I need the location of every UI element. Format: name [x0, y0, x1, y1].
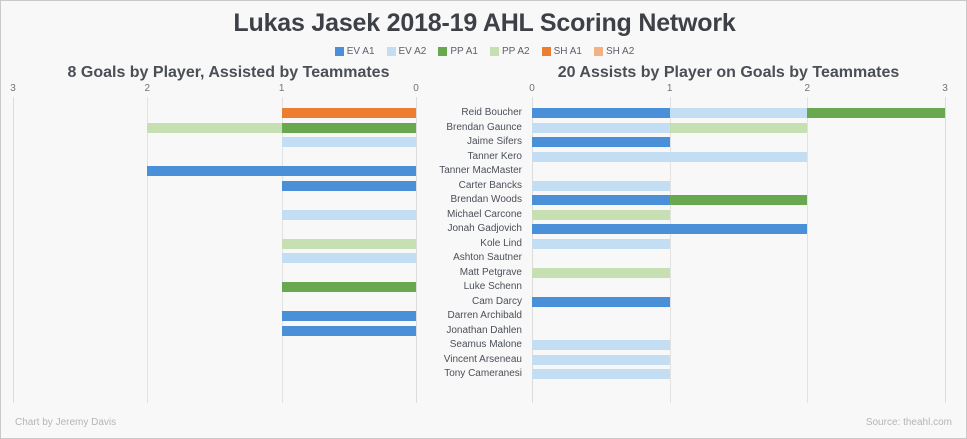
chart-row[interactable]	[13, 324, 416, 339]
bar-segment-ev-a1[interactable]	[282, 311, 416, 321]
legend-label: SH A1	[554, 46, 582, 57]
chart-row[interactable]	[13, 193, 416, 208]
chart-row[interactable]	[13, 150, 416, 165]
chart-row[interactable]	[13, 237, 416, 252]
player-label: Jonah Gadjovich	[420, 222, 524, 237]
chart-row[interactable]	[13, 135, 416, 150]
axis-tick-left-0: 0	[413, 83, 419, 94]
stacked-bar[interactable]	[282, 239, 416, 249]
bar-segment-pp-a1[interactable]	[807, 108, 945, 118]
legend-label: EV A1	[347, 46, 375, 57]
chart-row[interactable]	[532, 280, 945, 295]
stacked-bar[interactable]	[532, 268, 670, 278]
legend-swatch-icon	[542, 47, 551, 56]
chart-row[interactable]	[532, 338, 945, 353]
stacked-bar[interactable]	[147, 123, 416, 133]
chart-row[interactable]	[532, 353, 945, 368]
footer-credit: Chart by Jeremy Davis	[15, 417, 116, 428]
stacked-bar[interactable]	[532, 297, 670, 307]
bar-segment-ev-a2[interactable]	[532, 369, 670, 379]
bar-segment-ev-a2[interactable]	[532, 340, 670, 350]
bar-segment-ev-a2[interactable]	[532, 123, 670, 133]
stacked-bar[interactable]	[532, 369, 670, 379]
legend-swatch-icon	[335, 47, 344, 56]
stacked-bar[interactable]	[282, 137, 416, 147]
stacked-bar[interactable]	[532, 355, 670, 365]
page-title: Lukas Jasek 2018-19 AHL Scoring Network	[1, 9, 967, 38]
player-label: Ashton Sautner	[420, 251, 524, 266]
legend-label: PP A1	[450, 46, 478, 57]
stacked-bar[interactable]	[282, 181, 416, 191]
player-label: Jonathan Dahlen	[420, 324, 524, 339]
stacked-bar[interactable]	[532, 224, 807, 234]
chart-row[interactable]	[532, 179, 945, 194]
right-panel-plot	[532, 106, 945, 396]
chart-row[interactable]	[13, 106, 416, 121]
player-label: Reid Boucher	[420, 106, 524, 121]
chart-row[interactable]	[13, 338, 416, 353]
legend-swatch-icon	[594, 47, 603, 56]
chart-row[interactable]	[532, 309, 945, 324]
chart-row[interactable]	[13, 280, 416, 295]
chart-row[interactable]	[13, 309, 416, 324]
stacked-bar[interactable]	[282, 253, 416, 263]
stacked-bar[interactable]	[532, 108, 945, 118]
legend-swatch-icon	[387, 47, 396, 56]
chart-row[interactable]	[532, 135, 945, 150]
axis-tick-right-1: 1	[667, 83, 673, 94]
chart-row[interactable]	[532, 150, 945, 165]
bar-segment-ev-a2[interactable]	[282, 253, 416, 263]
chart-row[interactable]	[13, 121, 416, 136]
legend-item-ev-a1[interactable]: EV A1	[335, 46, 375, 57]
chart-row[interactable]	[13, 367, 416, 382]
axis-tick-left-2: 2	[145, 83, 151, 94]
legend-item-pp-a2[interactable]: PP A2	[490, 46, 530, 57]
bar-segment-pp-a2[interactable]	[532, 268, 670, 278]
bar-segment-ev-a1[interactable]	[282, 326, 416, 336]
chart-canvas: Lukas Jasek 2018-19 AHL Scoring Network …	[0, 0, 967, 439]
axis-tick-right-0: 0	[529, 83, 535, 94]
stacked-bar[interactable]	[532, 195, 807, 205]
player-label: Kole Lind	[420, 237, 524, 252]
bar-segment-ev-a2[interactable]	[670, 108, 808, 118]
legend-label: PP A2	[502, 46, 530, 57]
player-label: Vincent Arseneau	[420, 353, 524, 368]
stacked-bar[interactable]	[532, 340, 670, 350]
bar-segment-ev-a1[interactable]	[532, 297, 670, 307]
legend-swatch-icon	[438, 47, 447, 56]
chart-row[interactable]	[13, 208, 416, 223]
bar-segment-ev-a1[interactable]	[532, 195, 670, 205]
player-label: Jaime Sifers	[420, 135, 524, 150]
bar-segment-sh-a1[interactable]	[282, 108, 416, 118]
axis-tick-left-1: 1	[279, 83, 285, 94]
chart-row[interactable]	[532, 193, 945, 208]
chart-row[interactable]	[532, 324, 945, 339]
chart-row[interactable]	[13, 222, 416, 237]
legend-item-sh-a1[interactable]: SH A1	[542, 46, 582, 57]
legend-item-pp-a1[interactable]: PP A1	[438, 46, 478, 57]
player-label: Michael Carcone	[420, 208, 524, 223]
bar-segment-ev-a1[interactable]	[532, 224, 807, 234]
axis-tick-right-2: 2	[805, 83, 811, 94]
player-label: Darren Archibald	[420, 309, 524, 324]
stacked-bar[interactable]	[532, 123, 807, 133]
bar-segment-ev-a2[interactable]	[282, 137, 416, 147]
legend-item-sh-a2[interactable]: SH A2	[594, 46, 634, 57]
bar-segment-ev-a2[interactable]	[282, 210, 416, 220]
player-label: Brendan Gaunce	[420, 121, 524, 136]
chart-row[interactable]	[13, 353, 416, 368]
chart-row[interactable]	[13, 179, 416, 194]
chart-row[interactable]	[532, 121, 945, 136]
gridline	[945, 97, 946, 403]
legend-item-ev-a2[interactable]: EV A2	[387, 46, 427, 57]
chart-row[interactable]	[532, 266, 945, 281]
bar-segment-pp-a1[interactable]	[670, 195, 808, 205]
stacked-bar[interactable]	[282, 210, 416, 220]
bar-segment-pp-a2[interactable]	[532, 210, 670, 220]
player-label: Tanner Kero	[420, 150, 524, 165]
player-label: Seamus Malone	[420, 338, 524, 353]
bar-segment-ev-a1[interactable]	[282, 181, 416, 191]
chart-row[interactable]	[532, 106, 945, 121]
bar-segment-pp-a1[interactable]	[282, 282, 416, 292]
player-label: Luke Schenn	[420, 280, 524, 295]
player-label: Brendan Woods	[420, 193, 524, 208]
bar-segment-ev-a2[interactable]	[532, 181, 670, 191]
chart-row[interactable]	[532, 251, 945, 266]
bar-segment-pp-a2[interactable]	[670, 123, 808, 133]
stacked-bar[interactable]	[282, 326, 416, 336]
bar-segment-pp-a2[interactable]	[282, 239, 416, 249]
bar-segment-pp-a2[interactable]	[147, 123, 281, 133]
chart-row[interactable]	[532, 222, 945, 237]
bar-segment-ev-a2[interactable]	[532, 355, 670, 365]
chart-row[interactable]	[13, 164, 416, 179]
gridline	[416, 97, 417, 403]
chart-row[interactable]	[532, 295, 945, 310]
bar-segment-ev-a1[interactable]	[532, 137, 670, 147]
axis-tick-left-3: 3	[10, 83, 16, 94]
legend-label: EV A2	[399, 46, 427, 57]
chart-row[interactable]	[532, 367, 945, 382]
player-label: Carter Bancks	[420, 179, 524, 194]
bar-segment-ev-a2[interactable]	[532, 152, 807, 162]
stacked-bar[interactable]	[282, 108, 416, 118]
chart-row[interactable]	[532, 237, 945, 252]
chart-legend: EV A1EV A2PP A1PP A2SH A1SH A2	[1, 46, 967, 57]
chart-row[interactable]	[13, 266, 416, 281]
footer-source: Source: theahl.com	[866, 417, 952, 428]
left-panel-subtitle: 8 Goals by Player, Assisted by Teammates	[1, 64, 456, 82]
axis-tick-right-3: 3	[942, 83, 948, 94]
stacked-bar[interactable]	[532, 137, 670, 147]
stacked-bar[interactable]	[532, 210, 670, 220]
bar-segment-ev-a1[interactable]	[147, 166, 416, 176]
stacked-bar[interactable]	[282, 282, 416, 292]
stacked-bar[interactable]	[532, 152, 807, 162]
bar-segment-ev-a2[interactable]	[532, 239, 670, 249]
legend-label: SH A2	[606, 46, 634, 57]
player-label: Tony Cameranesi	[420, 367, 524, 382]
right-panel-subtitle: 20 Assists by Player on Goals by Teammat…	[501, 64, 956, 82]
chart-row[interactable]	[13, 295, 416, 310]
stacked-bar[interactable]	[532, 181, 670, 191]
player-label: Matt Petgrave	[420, 266, 524, 281]
player-label: Cam Darcy	[420, 295, 524, 310]
legend-swatch-icon	[490, 47, 499, 56]
left-panel-plot	[13, 106, 416, 396]
player-name-labels: Reid BoucherBrendan GaunceJaime SifersTa…	[420, 106, 524, 396]
stacked-bar[interactable]	[147, 166, 416, 176]
chart-row[interactable]	[532, 208, 945, 223]
stacked-bar[interactable]	[532, 239, 670, 249]
bar-segment-ev-a1[interactable]	[532, 108, 670, 118]
chart-row[interactable]	[532, 164, 945, 179]
chart-row[interactable]	[13, 251, 416, 266]
stacked-bar[interactable]	[282, 311, 416, 321]
player-label: Tanner MacMaster	[420, 164, 524, 179]
bar-segment-pp-a1[interactable]	[282, 123, 416, 133]
